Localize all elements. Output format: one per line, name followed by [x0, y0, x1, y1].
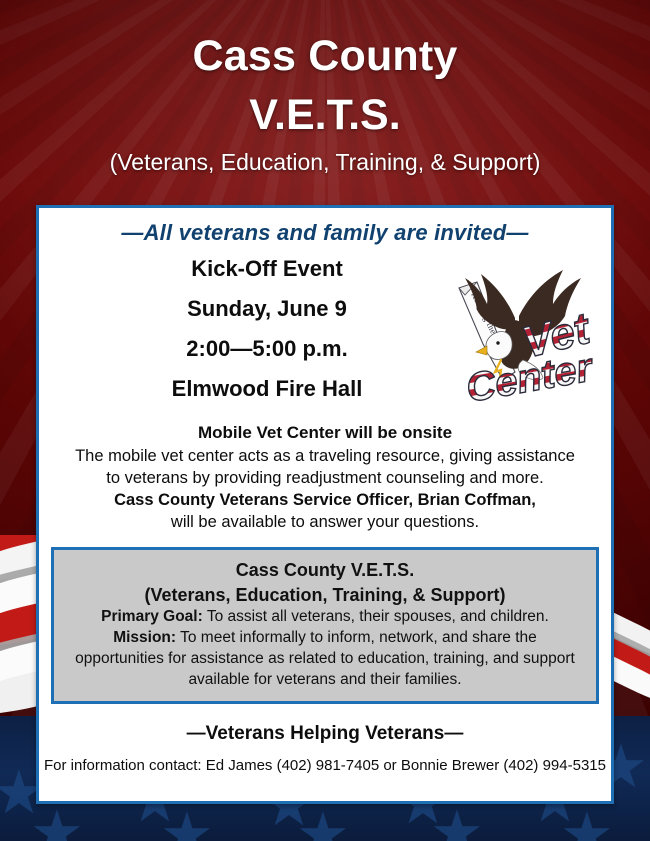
- star-icon: ★: [560, 805, 614, 841]
- footer-contact: For information contact: Ed James (402) …: [39, 756, 611, 776]
- event-date: Sunday, June 9: [117, 298, 417, 320]
- mobile-vet-center-body-line2: to veterans by providing readjustment co…: [53, 467, 597, 489]
- vet-center-logo: Keeping the Promise: [443, 260, 593, 415]
- primary-goal-text: To assist all veterans, their spouses, a…: [207, 608, 549, 625]
- event-name: Kick-Off Event: [117, 258, 417, 280]
- invitation-line: —All veterans and family are invited—: [39, 220, 611, 246]
- page-subtitle: (Veterans, Education, Training, & Suppor…: [0, 150, 650, 175]
- mission-box-subtitle: (Veterans, Education, Training, & Suppor…: [64, 583, 586, 607]
- page-title-line1: Cass County: [0, 34, 650, 79]
- panel-footer: —Veterans Helping Veterans— For informat…: [39, 722, 611, 776]
- content-panel: —All veterans and family are invited— Ki…: [36, 205, 614, 804]
- event-time: 2:00—5:00 p.m.: [117, 338, 417, 360]
- mobile-vet-center-body-line1: The mobile vet center acts as a travelin…: [53, 445, 597, 467]
- page-title-line2: V.E.T.S.: [0, 93, 650, 138]
- primary-goal-label: Primary Goal:: [101, 608, 203, 625]
- event-venue: Elmwood Fire Hall: [117, 378, 417, 400]
- mission-text-line3: available for veterans and their familie…: [64, 670, 586, 691]
- star-icon: ★: [160, 805, 214, 841]
- event-details-list: Kick-Off Event Sunday, June 9 2:00—5:00 …: [117, 258, 417, 418]
- star-icon: ★: [296, 805, 350, 841]
- mission-row: Mission: To meet informally to inform, n…: [64, 628, 586, 649]
- flyer-poster: ★ ★ ★ ★ ★ ★ ★ ★ ★ ★ ★ ★ ★ ★ ★ Cass Count…: [0, 0, 650, 841]
- mission-box-title: Cass County V.E.T.S.: [64, 558, 586, 582]
- poster-header: Cass County V.E.T.S. (Veterans, Educatio…: [0, 34, 650, 176]
- service-officer-subline: will be available to answer your questio…: [53, 511, 597, 533]
- mission-label: Mission:: [113, 629, 176, 646]
- mission-text-line1: To meet informally to inform, network, a…: [180, 629, 537, 646]
- primary-goal-row: Primary Goal: To assist all veterans, th…: [64, 607, 586, 628]
- mission-box: Cass County V.E.T.S. (Veterans, Educatio…: [51, 547, 599, 703]
- mobile-vet-center-heading: Mobile Vet Center will be onsite: [53, 422, 597, 445]
- mobile-vet-center-block: Mobile Vet Center will be onsite The mob…: [39, 422, 611, 533]
- mission-text-line2: opportunities for assistance as related …: [64, 649, 586, 670]
- footer-tagline: —Veterans Helping Veterans—: [39, 722, 611, 747]
- service-officer-line: Cass County Veterans Service Officer, Br…: [53, 489, 597, 511]
- star-icon: ★: [430, 803, 484, 841]
- star-icon: ★: [30, 803, 84, 841]
- event-details-row: Kick-Off Event Sunday, June 9 2:00—5:00 …: [39, 258, 611, 416]
